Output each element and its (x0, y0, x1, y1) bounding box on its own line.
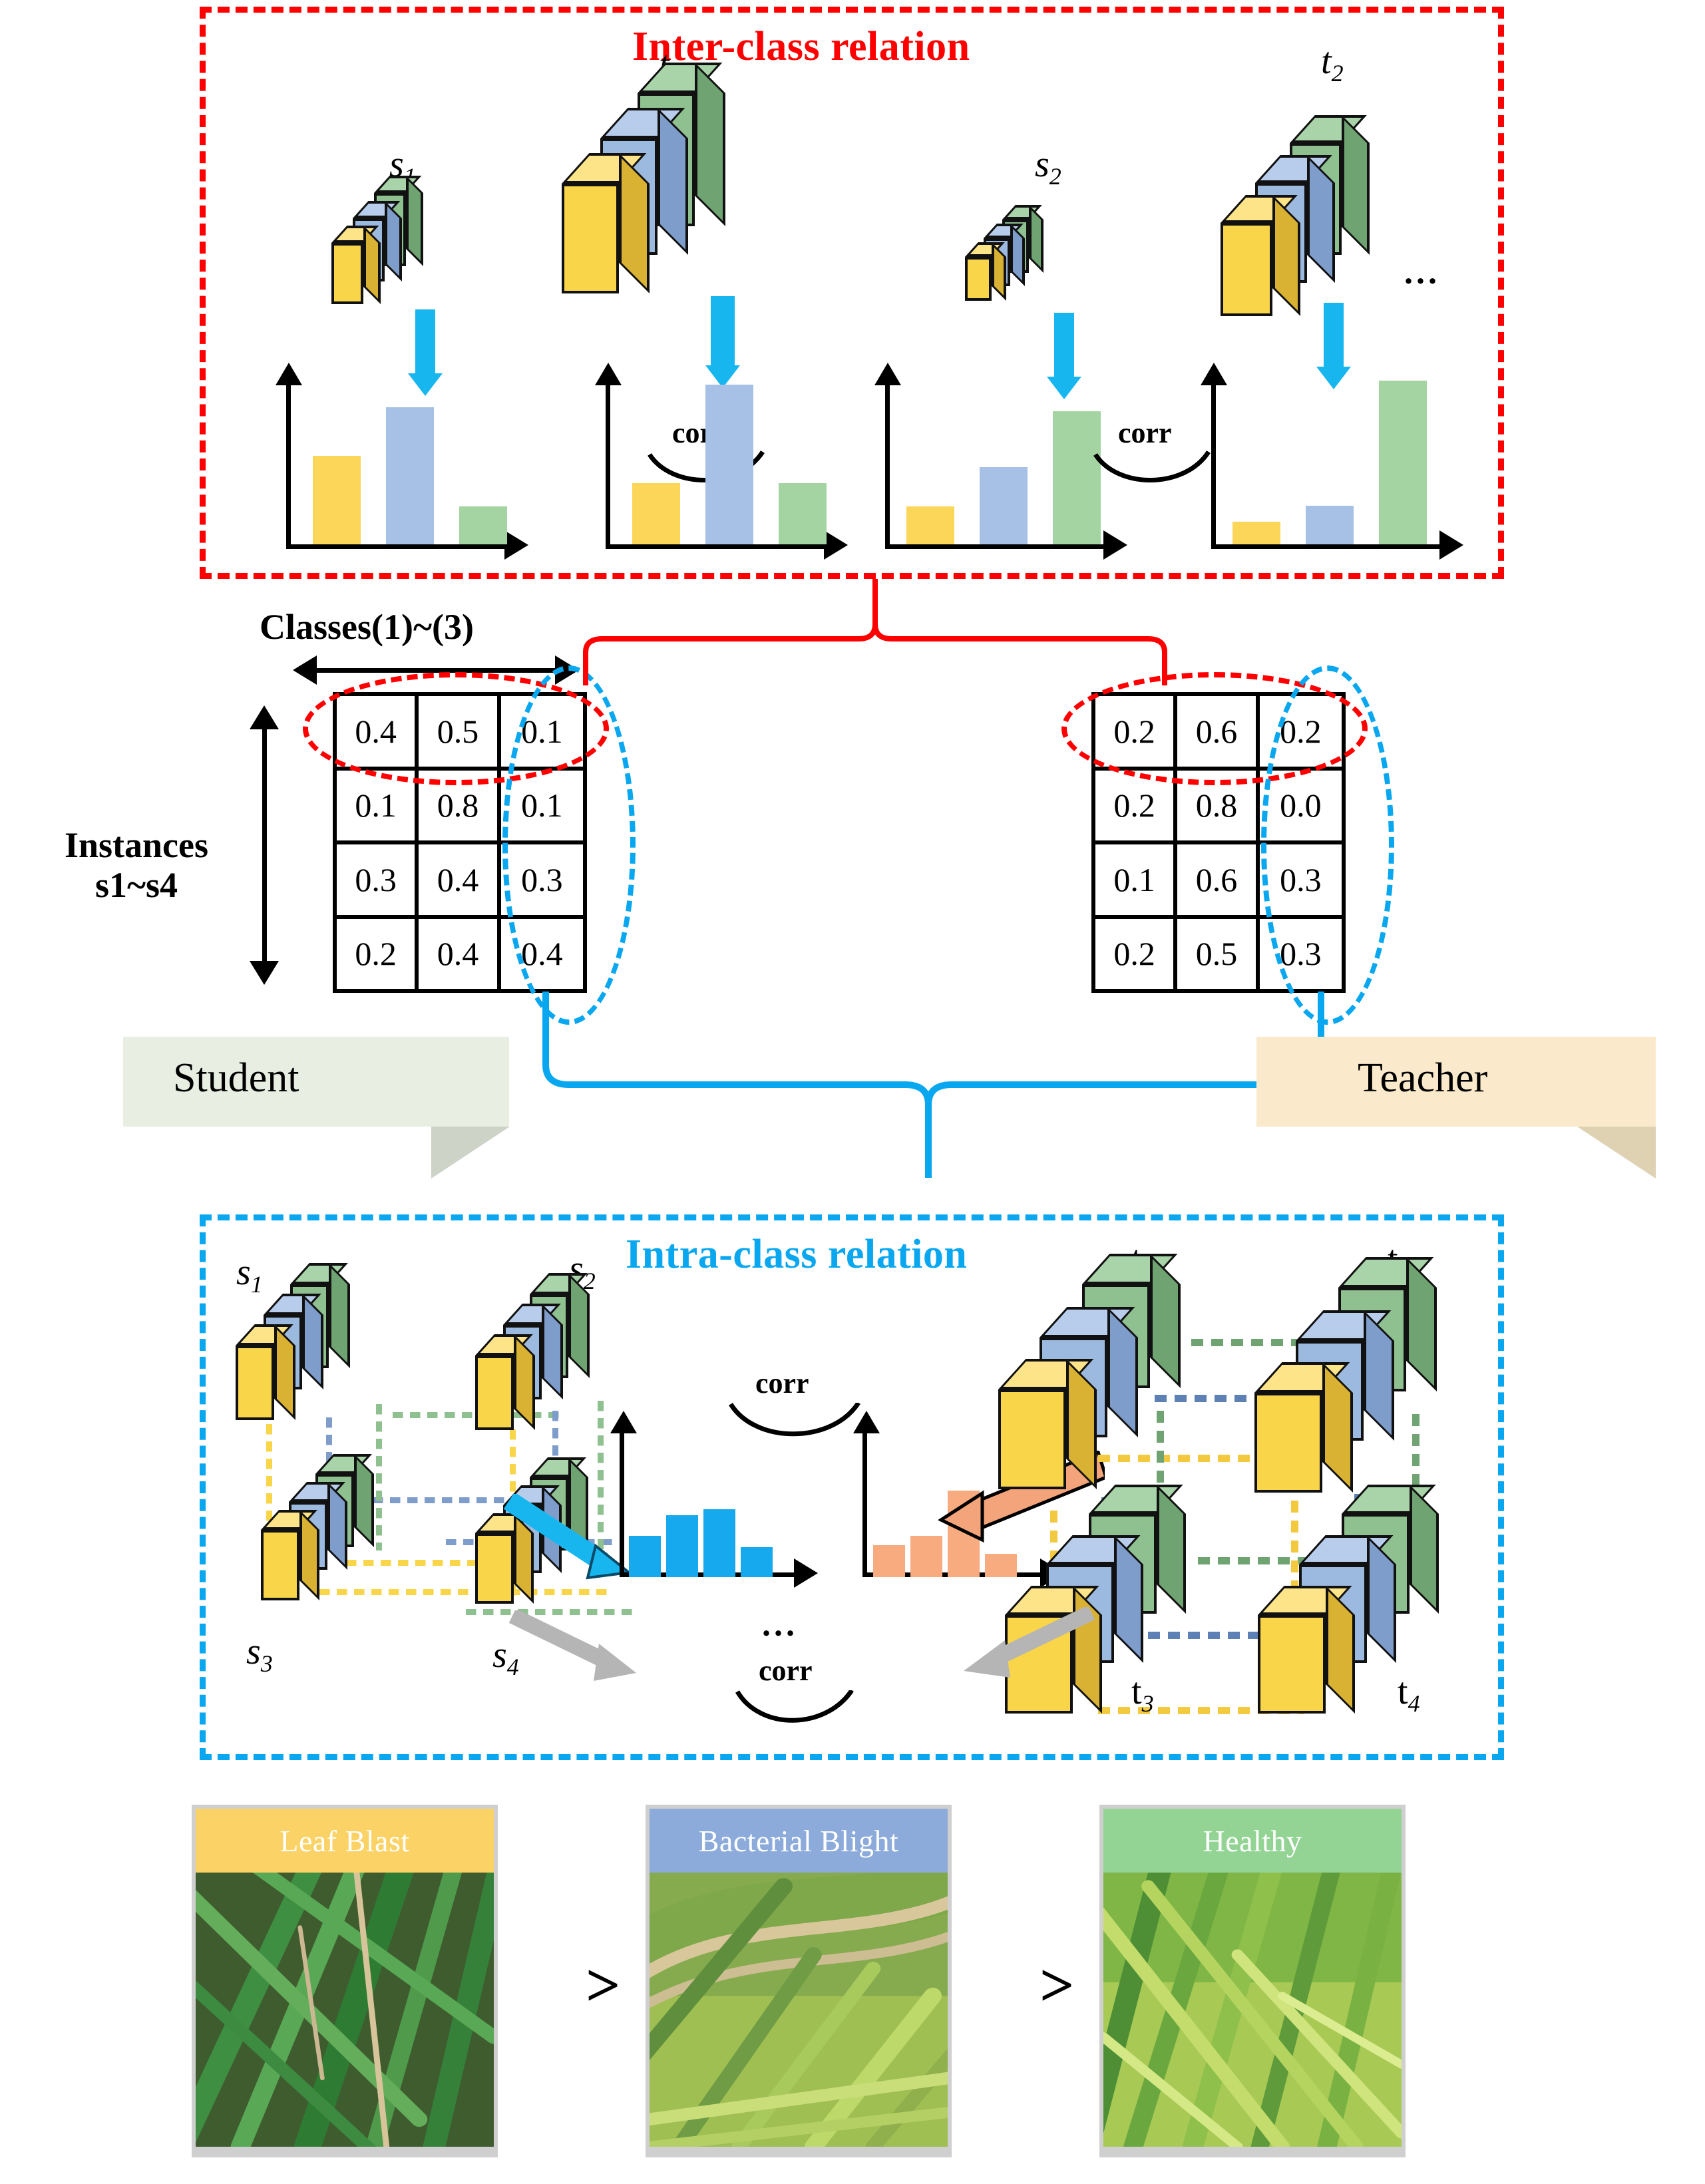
slab-yellow-t4-intra (1258, 1615, 1326, 1714)
comparator-2: > (1040, 1950, 1074, 2020)
instances-axis-arrow (250, 705, 280, 985)
label-t3-intra: t3 (1131, 1670, 1154, 1718)
slab-yellow-s3-intra (261, 1530, 299, 1600)
intra-class-title: Intra-class relation (626, 1231, 967, 1278)
block-group-s1 (326, 193, 459, 319)
slab-yellow-s1-intra (236, 1346, 274, 1420)
corr-smile-icon (725, 1690, 878, 1730)
label-s1-intra: s1 (236, 1251, 263, 1298)
block-group-t1 (552, 93, 772, 313)
matrix-cell: 0.3 (337, 844, 419, 919)
dotted-link-yellow-s3-s4 (319, 1589, 612, 1595)
teacher-matrix-col3-highlight (1261, 665, 1394, 1025)
class-photo-bacterial-blight (650, 1873, 948, 2147)
intra-ellipsis: ... (762, 1605, 798, 1644)
grey-arrow-left (506, 1610, 665, 1704)
bar-class2-s2 (980, 467, 1028, 544)
matrix-cell: 0.2 (1095, 919, 1177, 990)
block-group-t2 (1211, 143, 1431, 329)
bar-class1-s1 (313, 456, 361, 544)
class-card-bacterial-blight[interactable]: Bacterial Blight (646, 1805, 952, 2157)
hist-bar-4-student (741, 1547, 773, 1577)
class-card-caption: Leaf Blast (196, 1809, 494, 1873)
teacher-banner-label: Teacher (1358, 1055, 1487, 1102)
student-banner-label: Student (173, 1055, 299, 1102)
class-photo-leaf-blast (196, 1873, 494, 2147)
class-card-leaf-blast[interactable]: Leaf Blast (192, 1805, 498, 2157)
slab-yellow-t1 (562, 184, 619, 293)
bar-class3-t2 (1379, 381, 1427, 544)
matrix-cell: 0.4 (419, 844, 500, 919)
bar-class3-t1 (779, 483, 827, 544)
chart-teacher-t1 (586, 363, 865, 576)
class-card-healthy[interactable]: Healthy (1099, 1805, 1406, 2157)
chart-student-s1 (266, 363, 546, 576)
student-matrix-col3-highlight (502, 665, 636, 1025)
hist-bar-2-student (666, 1515, 698, 1577)
comparator-1: > (586, 1950, 620, 2020)
grey-arrow-right (932, 1607, 1098, 1700)
inter-ellipsis: ... (1404, 253, 1440, 292)
student-banner-fold (431, 1127, 510, 1179)
slab-yellow-s2 (965, 257, 992, 301)
corr-intra-bottom: ... corr (725, 1617, 878, 1724)
instances-axis-label: Instances s1~s4 (13, 825, 260, 906)
matrix-cell: 0.1 (1095, 844, 1177, 919)
bar-class2-t2 (1306, 506, 1354, 544)
class-card-caption: Bacterial Blight (650, 1809, 948, 1873)
slab-yellow-t1-intra (998, 1389, 1066, 1489)
label-t4-intra: t4 (1398, 1670, 1420, 1718)
chart-teacher-t2 (1191, 363, 1484, 576)
label-s2-inter: s2 (1035, 143, 1061, 190)
block-group-s2 (958, 220, 1091, 326)
hist-bar-4-teacher (985, 1554, 1017, 1577)
label-t2-inter: t2 (1321, 40, 1344, 87)
matrix-cell: 0.4 (419, 919, 500, 990)
classes-axis-label: Classes(1)~(3) (260, 607, 474, 647)
label-s3-intra: s3 (246, 1630, 273, 1678)
bar-class1-t2 (1232, 522, 1280, 544)
bar-class2-s1 (386, 407, 434, 544)
bar-class3-s1 (459, 506, 507, 544)
matrix-cell: 0.6 (1177, 844, 1259, 919)
bar-class1-t1 (632, 483, 680, 544)
class-photo-healthy (1103, 1873, 1402, 2147)
slab-yellow-s2-intra (475, 1356, 514, 1430)
matrix-cell: 0.5 (1177, 919, 1259, 990)
hist-bar-3-student (703, 1509, 735, 1577)
dotted-link-green-s1-s3 (376, 1404, 382, 1550)
teacher-banner-fold (1577, 1127, 1656, 1179)
slab-yellow-t2-intra (1254, 1393, 1322, 1493)
bar-class1-s2 (906, 506, 954, 544)
cyan-brace-connector (532, 985, 1331, 1184)
slab-yellow-t2 (1221, 223, 1272, 316)
hist-bar-1-teacher (873, 1545, 905, 1577)
slab-yellow-s1 (331, 243, 363, 304)
bar-class2-t1 (705, 385, 753, 544)
hist-bar-1-student (629, 1536, 661, 1577)
hist-bar-2-teacher (910, 1536, 942, 1577)
red-brace-connector (572, 572, 1171, 692)
matrix-cell: 0.2 (337, 919, 419, 990)
class-card-caption: Healthy (1103, 1809, 1402, 1873)
